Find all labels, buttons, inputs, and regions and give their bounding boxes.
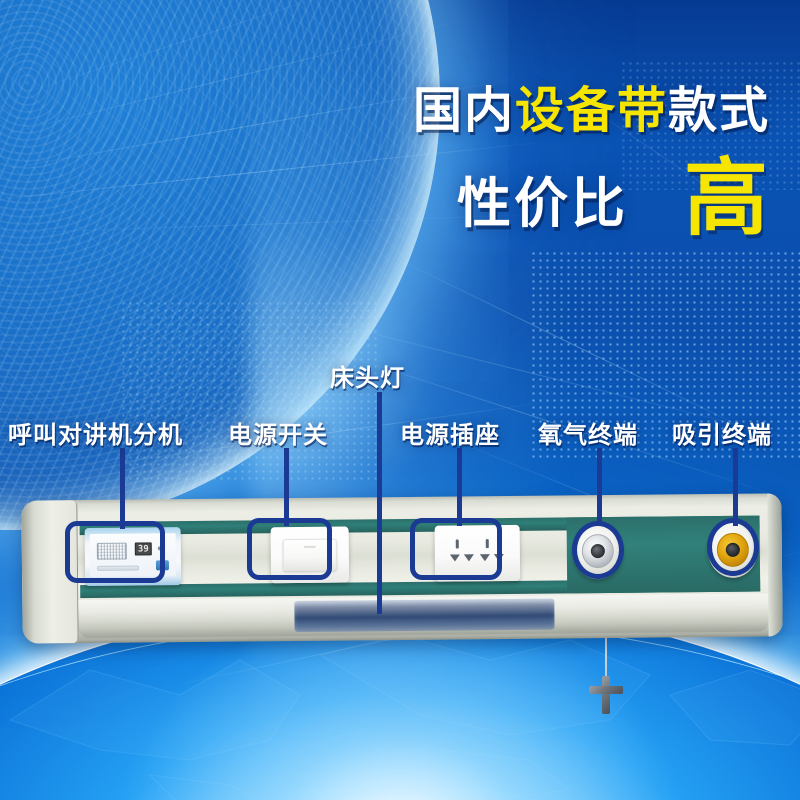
callout-label-suction: 吸引终端 — [672, 415, 772, 450]
panel-bottom-shading — [78, 593, 768, 638]
leader-line-power-switch — [284, 448, 289, 526]
panel-end-cap-left — [21, 500, 78, 644]
headline-block: 国内设备带款式 性价比 高 — [413, 86, 770, 239]
socket-slot-b-left — [479, 554, 489, 561]
socket-pins-group — [449, 539, 505, 568]
callout-label-bed-lamp: 床头灯 — [330, 358, 405, 393]
leader-line-power-socket — [457, 448, 462, 526]
power-socket-unit[interactable] — [435, 525, 521, 582]
socket-pin-a1 — [455, 539, 458, 548]
pull-cord-handle-vertical — [602, 676, 610, 714]
intercom-display: 39 — [135, 542, 152, 555]
intercom-slot — [97, 566, 139, 571]
socket-slot-a-left — [449, 554, 459, 561]
oxygen-terminal-unit[interactable] — [573, 523, 624, 579]
light-streak-2 — [0, 15, 483, 151]
power-switch-unit[interactable] — [271, 527, 350, 584]
headline-subtitle: 性价比 — [457, 159, 628, 238]
rocker-indicator — [304, 546, 316, 548]
headline-line-1: 国内设备带款式 — [413, 86, 770, 137]
suction-terminal-ring — [717, 533, 749, 567]
speaker-grille-icon — [97, 543, 127, 560]
pull-cord-handle-horizontal — [589, 686, 623, 694]
pull-cord-handle[interactable] — [585, 676, 627, 714]
oxygen-terminal-ring — [582, 534, 614, 568]
promo-banner: 国内设备带款式 性价比 高 呼叫对讲机分机 电源开关 床头灯 电源插座 氧气终端… — [0, 0, 800, 800]
rocker-switch-icon[interactable] — [283, 539, 337, 572]
callout-label-power-switch: 电源开关 — [228, 415, 328, 450]
socket-slot-a-right — [463, 554, 473, 561]
socket-slot-b-right — [493, 554, 503, 561]
leader-line-bed-lamp — [377, 392, 382, 614]
status-led-icon — [158, 546, 162, 550]
oxygen-terminal-port-icon — [591, 544, 605, 558]
leader-line-intercom — [120, 448, 125, 529]
socket-pin-b1 — [485, 539, 488, 548]
headline-line-2: 性价比 高 — [413, 159, 770, 239]
callout-label-oxygen: 氧气终端 — [538, 415, 638, 450]
headline-part-1: 国内 — [413, 82, 515, 139]
intercom-unit[interactable]: 39 — [85, 527, 182, 586]
callout-label-power-socket: 电源插座 — [400, 415, 500, 450]
suction-terminal-unit[interactable] — [708, 522, 759, 578]
light-streak-1 — [0, 0, 435, 121]
headline-part-3: 款式 — [668, 82, 770, 139]
headline-part-2: 设备带 — [515, 82, 668, 139]
suction-terminal-port-icon — [726, 543, 740, 557]
call-button-icon[interactable] — [156, 560, 169, 570]
headline-emphasis: 高 — [684, 159, 770, 239]
leader-line-oxygen — [597, 448, 602, 526]
panel-end-cap-right — [767, 493, 782, 636]
callout-label-intercom: 呼叫对讲机分机 — [8, 415, 183, 450]
bed-head-unit-panel: 39 — [21, 493, 782, 643]
leader-line-suction — [733, 448, 738, 526]
intercom-faceplate: 39 — [90, 533, 176, 577]
